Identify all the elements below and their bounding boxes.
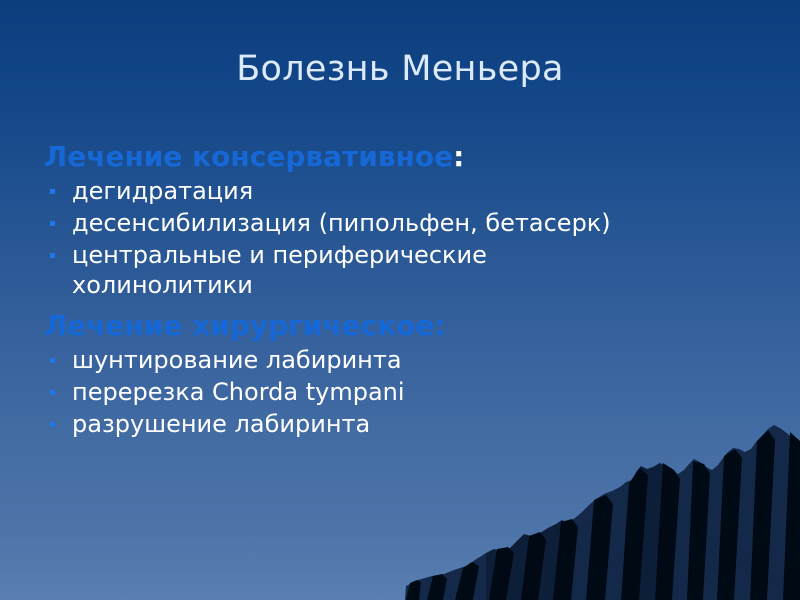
section-heading-conservative-colon: : <box>453 140 464 173</box>
presentation-slide: Болезнь Меньера Лечение консервативное: … <box>0 0 800 600</box>
list-item: центральные и периферические холинолитик… <box>44 240 664 300</box>
list-item: шунтирование лабиринта <box>44 345 664 375</box>
list-item: десенсибилизация (пипольфен, бетасерк) <box>44 208 664 238</box>
bullet-list-surgical: шунтирование лабиринта перерезка Chorda … <box>44 345 664 439</box>
list-item-label: центральные и периферические холинолитик… <box>72 240 664 300</box>
section-heading-conservative: Лечение консервативное: <box>44 140 664 174</box>
section-heading-surgical-colon: : <box>434 309 445 342</box>
list-item-label: шунтирование лабиринта <box>72 345 664 375</box>
bullet-list-conservative: дегидратация десенсибилизация (пипольфен… <box>44 176 664 300</box>
list-item-label: десенсибилизация (пипольфен, бетасерк) <box>72 208 664 238</box>
square-bullet-icon <box>50 390 55 395</box>
list-item: дегидратация <box>44 176 664 206</box>
section-heading-conservative-text: Лечение консервативное <box>44 140 453 173</box>
list-item-label: перерезка Chorda tympani <box>72 377 664 407</box>
section-heading-surgical: Лечение хирургическое: <box>44 309 664 343</box>
section-heading-surgical-text: Лечение хирургическое <box>44 309 434 342</box>
slide-content: Лечение консервативное: дегидратация дес… <box>44 140 664 441</box>
list-item: разрушение лабиринта <box>44 409 664 439</box>
square-bullet-icon <box>50 358 55 363</box>
square-bullet-icon <box>50 189 55 194</box>
slide-title: Болезнь Меньера <box>0 48 800 90</box>
square-bullet-icon <box>50 221 55 226</box>
square-bullet-icon <box>50 422 55 427</box>
list-item-label: дегидратация <box>72 176 664 206</box>
list-item: перерезка Chorda tympani <box>44 377 664 407</box>
list-item-label: разрушение лабиринта <box>72 409 664 439</box>
square-bullet-icon <box>50 253 55 258</box>
